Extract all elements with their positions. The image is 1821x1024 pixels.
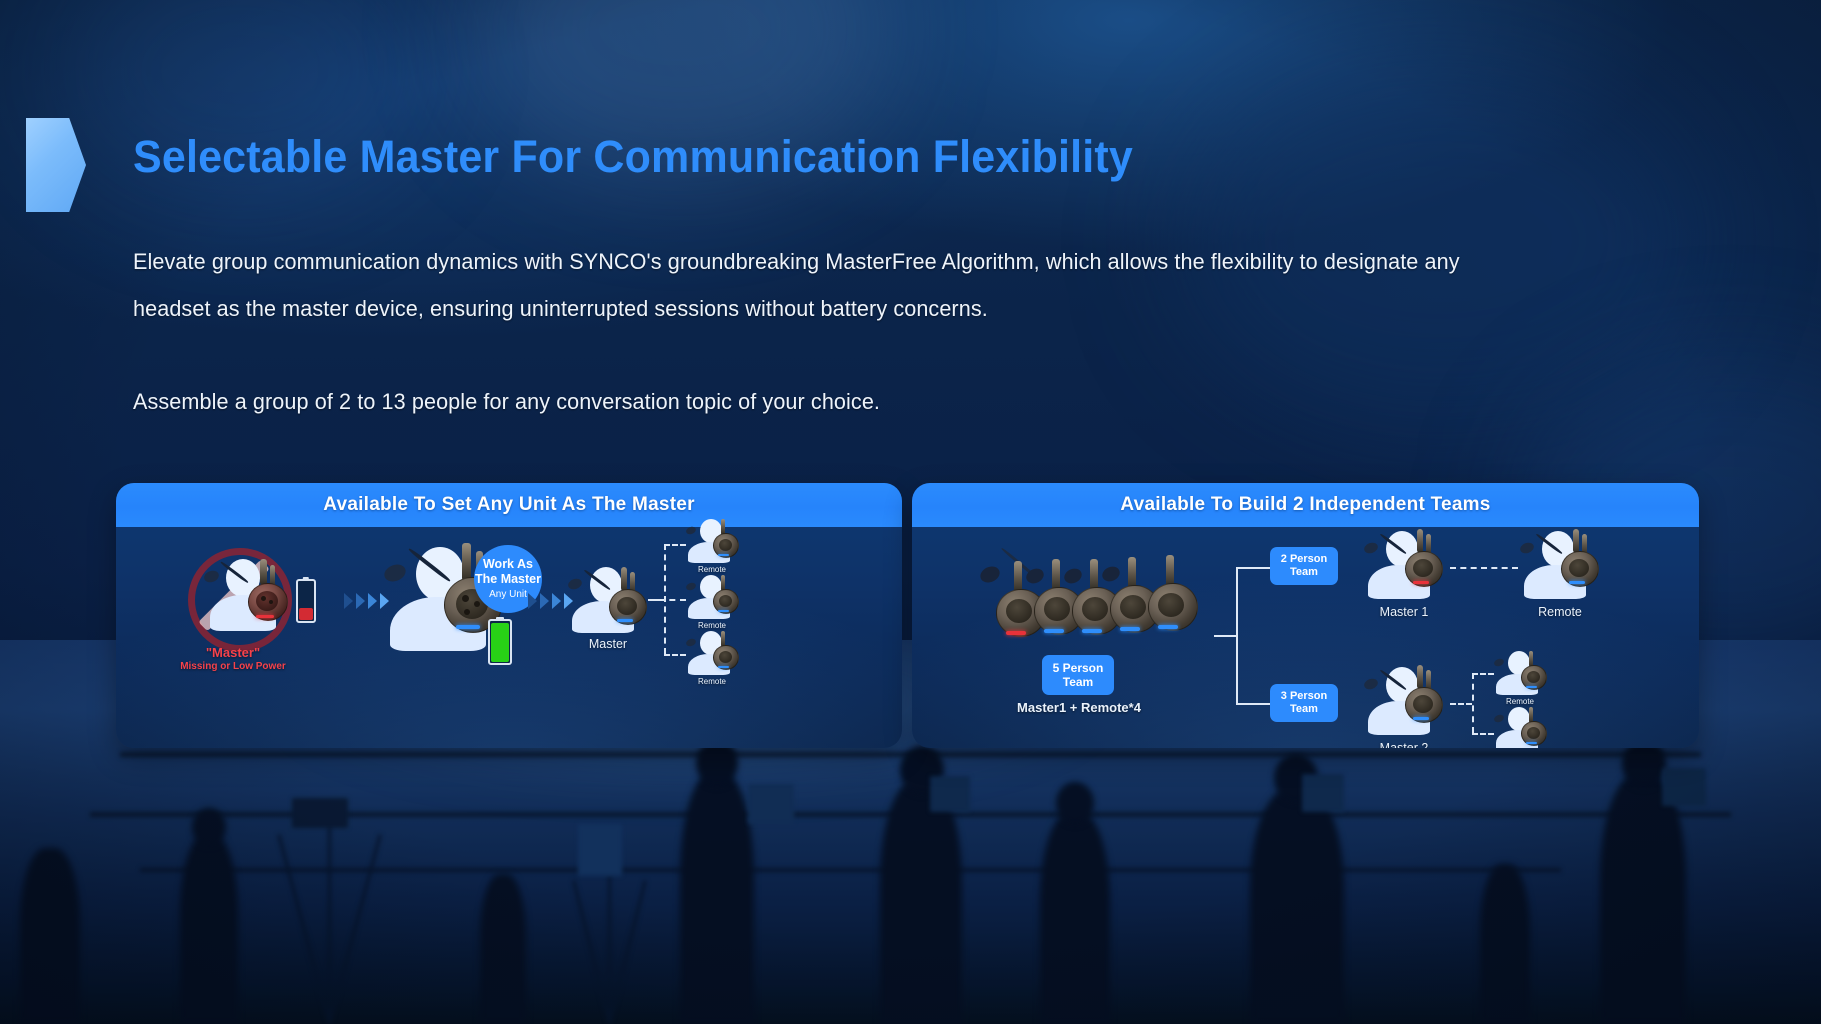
bubble-line-2: The Master bbox=[475, 572, 541, 587]
headset-unit-master bbox=[604, 567, 650, 633]
chevron-icon bbox=[344, 593, 353, 609]
headset-status-led bbox=[718, 666, 729, 668]
panel-build-2-independent-teams: Available To Build 2 Independent Teams bbox=[912, 483, 1699, 748]
caption-remote: Remote bbox=[1510, 605, 1610, 619]
tag-line-1: 5 Person bbox=[1053, 661, 1104, 675]
headset-status-led bbox=[1158, 625, 1178, 629]
headset-driver bbox=[1569, 559, 1589, 577]
headset-antenna bbox=[1573, 529, 1579, 553]
headset-unit-remote bbox=[1518, 651, 1548, 695]
headset-driver bbox=[1413, 559, 1433, 577]
headset-antenna bbox=[462, 543, 471, 581]
body-paragraph-1: Elevate group communication dynamics wit… bbox=[133, 238, 1535, 332]
flow-arrow-1-icon bbox=[344, 593, 389, 609]
tag-2-person-team: 2 Person Team bbox=[1270, 547, 1338, 585]
caption-master-1: Master 1 bbox=[1354, 605, 1454, 619]
caption-remote: Remote bbox=[682, 677, 742, 686]
mic-capsule bbox=[382, 561, 408, 584]
headset-user-low-power bbox=[202, 559, 288, 631]
mic-capsule bbox=[1100, 564, 1122, 584]
bubble-line-1: Work As bbox=[483, 557, 533, 572]
flow-arrow-2-icon bbox=[528, 593, 573, 609]
headset-status-led bbox=[256, 615, 274, 618]
tag-line-1: 3 Person bbox=[1281, 690, 1327, 703]
caption-master: Master bbox=[558, 637, 658, 651]
caption-missing-low-power: Missing or Low Power bbox=[163, 661, 303, 672]
mic-capsule bbox=[567, 577, 584, 591]
headset-status-led bbox=[617, 619, 633, 622]
headset-unit-remote bbox=[710, 575, 740, 619]
headset-status-led bbox=[1413, 717, 1429, 720]
headset-unit-master-1 bbox=[1400, 529, 1446, 597]
headset-status-led bbox=[456, 625, 480, 629]
mic-capsule bbox=[685, 582, 697, 592]
mic-capsule bbox=[685, 526, 697, 536]
headset-vent bbox=[474, 601, 480, 607]
headset-user-master bbox=[568, 567, 648, 633]
tag-line-1: 2 Person bbox=[1281, 553, 1327, 566]
mic-capsule bbox=[1062, 566, 1084, 586]
link-master2-bus bbox=[1450, 703, 1472, 705]
link-master1-remote bbox=[1450, 567, 1518, 569]
battery-indicator-full bbox=[488, 619, 512, 665]
battery-level-low bbox=[299, 608, 313, 620]
tag-3-person-team: 3 Person Team bbox=[1270, 684, 1338, 722]
bubble-line-3: Any Unit bbox=[489, 589, 527, 601]
headset-user-remote bbox=[1494, 651, 1546, 695]
headset-status-led bbox=[1526, 686, 1537, 688]
headset-vent bbox=[269, 600, 273, 604]
panel-right-body: 5 Person Team Master1 + Remote*4 2 Perso… bbox=[912, 527, 1699, 748]
mic-capsule bbox=[203, 569, 221, 584]
headset-user-remote bbox=[686, 575, 738, 619]
battery-indicator-low bbox=[296, 579, 316, 623]
headset-driver bbox=[1413, 695, 1433, 713]
headset-unit-source bbox=[1136, 555, 1208, 641]
tag-line-2: Team bbox=[1290, 703, 1318, 716]
headset-user-remote bbox=[686, 631, 738, 675]
network-bus-vertical bbox=[1472, 673, 1474, 733]
headset-user-remote bbox=[686, 519, 738, 563]
bracket-arm-top bbox=[1236, 567, 1270, 569]
mic-capsule bbox=[1024, 566, 1046, 586]
tag-5-person-team: 5 Person Team bbox=[1042, 655, 1114, 695]
headset-status-led bbox=[1526, 742, 1537, 744]
mic-capsule bbox=[978, 564, 1002, 586]
headset-driver bbox=[256, 591, 278, 611]
mic-capsule bbox=[1363, 541, 1380, 555]
panel-right-header: Available To Build 2 Independent Teams bbox=[912, 483, 1699, 527]
caption-remote: Remote bbox=[682, 565, 742, 574]
network-branch-top bbox=[664, 544, 686, 546]
chevron-icon bbox=[368, 593, 377, 609]
headset-antenna bbox=[1417, 665, 1423, 689]
headset-unit-remote bbox=[710, 519, 740, 563]
panel-set-any-unit-as-master: Available To Set Any Unit As The Master bbox=[116, 483, 902, 748]
battery-level-full bbox=[491, 623, 509, 662]
panel-left-header: Available To Set Any Unit As The Master bbox=[116, 483, 902, 527]
headset-unit-remote bbox=[710, 631, 740, 675]
headset-unit-low-power bbox=[242, 559, 290, 629]
body-paragraph-2: Assemble a group of 2 to 13 people for a… bbox=[133, 378, 1381, 425]
headset-driver bbox=[719, 651, 732, 663]
headset-status-led bbox=[1413, 581, 1429, 584]
chevron-icon bbox=[540, 593, 549, 609]
headset-antenna bbox=[621, 567, 627, 591]
bracket-spine bbox=[1236, 567, 1238, 703]
bracket-stem bbox=[1214, 635, 1236, 637]
bracket-arm-bottom bbox=[1236, 703, 1270, 705]
headset-driver bbox=[719, 539, 732, 551]
network-branch-top bbox=[1472, 673, 1494, 675]
headset-vent bbox=[464, 609, 470, 615]
caption-master1-remote4: Master1 + Remote*4 bbox=[1008, 700, 1150, 715]
headset-driver bbox=[1158, 593, 1184, 617]
headset-unit-remote bbox=[1518, 707, 1548, 748]
headset-user-remote bbox=[1494, 707, 1546, 748]
chevron-icon bbox=[528, 593, 537, 609]
mic-capsule bbox=[1363, 677, 1380, 691]
headset-antenna bbox=[260, 559, 267, 585]
headset-user-master-1 bbox=[1364, 531, 1444, 601]
headset-driver bbox=[1527, 727, 1540, 739]
caption-master-quoted: "Master" bbox=[173, 645, 293, 660]
headset-status-led bbox=[718, 610, 729, 612]
headset-user-master-2 bbox=[1364, 667, 1444, 737]
headset-antenna bbox=[1417, 529, 1423, 553]
tag-line-2: Team bbox=[1063, 675, 1093, 689]
caption-master-2: Master 2 bbox=[1354, 741, 1454, 748]
mic-capsule bbox=[1493, 658, 1505, 668]
tag-line-2: Team bbox=[1290, 566, 1318, 579]
headset-driver bbox=[719, 595, 732, 607]
network-branch-bottom bbox=[1472, 733, 1494, 735]
network-branch-bottom bbox=[664, 654, 686, 656]
caption-remote: Remote bbox=[1490, 697, 1550, 706]
panel-left-body: "Master" Missing or Low Power bbox=[116, 527, 902, 748]
headset-driver bbox=[617, 597, 637, 615]
mic-capsule bbox=[1519, 541, 1536, 555]
headset-status-led bbox=[1569, 581, 1585, 584]
headset-status-led bbox=[718, 554, 729, 556]
headset-vent bbox=[261, 596, 266, 601]
chevron-icon bbox=[356, 593, 365, 609]
headset-unit-master-2 bbox=[1400, 665, 1446, 733]
network-branch-mid bbox=[648, 599, 686, 601]
mic-capsule bbox=[1493, 714, 1505, 724]
headset-unit-remote bbox=[1556, 529, 1602, 597]
mic-capsule bbox=[685, 638, 697, 648]
chevron-icon bbox=[552, 593, 561, 609]
headset-user-remote bbox=[1520, 531, 1600, 601]
page-title: Selectable Master For Communication Flex… bbox=[133, 131, 1133, 183]
headset-vent bbox=[462, 595, 469, 602]
caption-remote: Remote bbox=[682, 621, 742, 630]
headset-driver bbox=[1527, 671, 1540, 683]
